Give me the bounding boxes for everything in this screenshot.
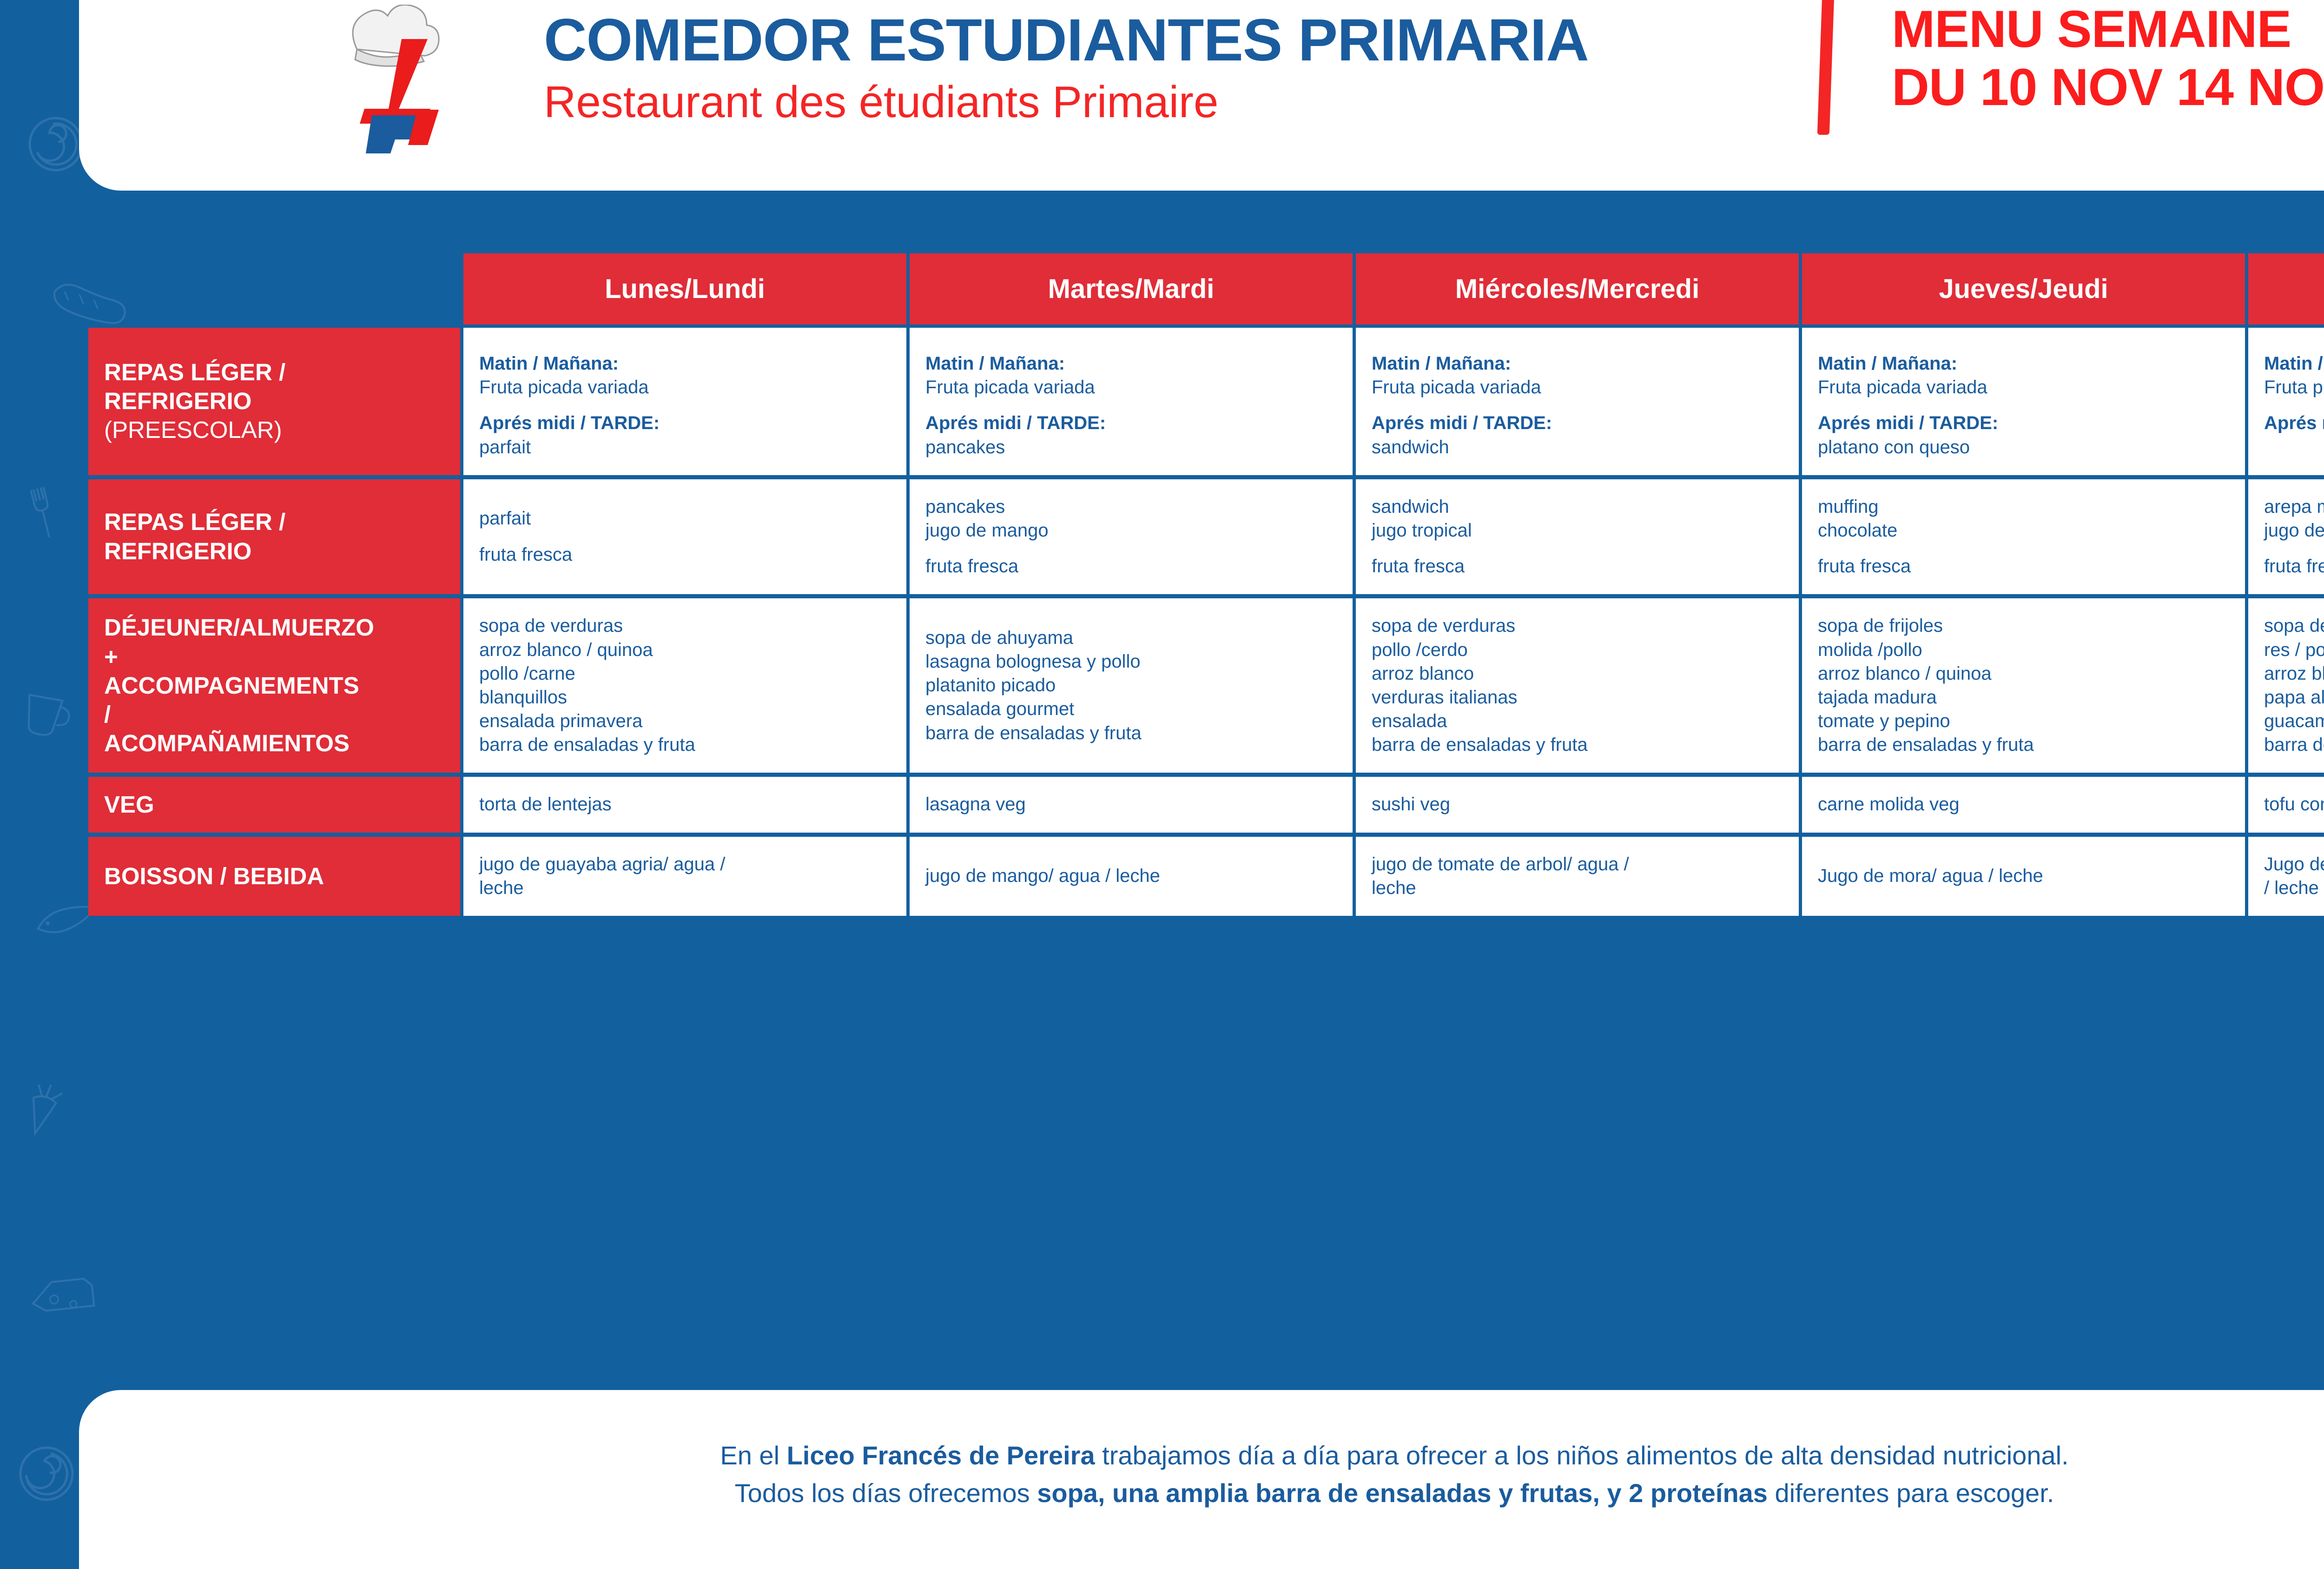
cell-bebida-wednesday: jugo de tomate de arbol/ agua / leche <box>1353 837 1799 920</box>
menu-item: barra de ensaladas y fruta <box>925 722 1339 745</box>
cell-preescolar-monday: Matin / Mañana: Fruta picada variada Apr… <box>460 328 906 479</box>
menu-week-label: MENU SEMAINE <box>1892 0 2324 58</box>
cell-preescolar-thursday: Matin / Mañana: Fruta picada variada Apr… <box>1799 328 2245 479</box>
cell-almuerzo-monday: sopa de verduras arroz blanco / quinoa p… <box>460 598 906 777</box>
row-label-line1: DÉJEUNER/ALMUERZO <box>104 613 448 642</box>
page-title: COMEDOR ESTUDIANTES PRIMARIA <box>544 9 1799 72</box>
afternoon-label: Aprés midi / TARDE: <box>1372 411 1785 435</box>
footer-line1-post: trabajamos día a día para ofrecer a los … <box>1095 1441 2069 1470</box>
table-row-boisson-bebida: BOISSON / BEBIDA jugo de guayaba agria/ … <box>88 837 2324 920</box>
morning-value: Fruta picada variada <box>1818 376 2231 399</box>
day-header-wednesday: Miércoles/Mercredi <box>1353 253 1799 328</box>
cell-almuerzo-friday: sopa de arvejas res / pollo arroz blanco… <box>2245 598 2324 777</box>
morning-value: Fruta picada variada <box>2264 376 2324 399</box>
row-label-line3: (PREESCOLAR) <box>104 416 448 444</box>
menu-item: guacamole <box>2264 709 2324 733</box>
menu-item: sopa de verduras <box>1372 614 1785 638</box>
weekly-menu-table: Lunes/Lundi Martes/Mardi Miércoles/Mercr… <box>88 253 2324 920</box>
morning-value: Fruta picada variada <box>1372 376 1785 399</box>
menu-item: pollo /carne <box>479 662 892 686</box>
drink-item: leche <box>479 876 892 900</box>
menu-item: sopa de verduras <box>479 614 892 638</box>
menu-item: barra de ensaladas y fruta <box>1818 733 2231 757</box>
menu-item: res / pollo <box>2264 638 2324 662</box>
afternoon-value: pancakes <box>925 436 1339 459</box>
week-range: MENU SEMAINE DU 10 NOV 14 NOV 2025 <box>1892 0 2324 117</box>
fruit-item: fruta fresca <box>1372 555 1785 578</box>
cell-preescolar-tuesday: Matin / Mañana: Fruta picada variada Apr… <box>906 328 1353 479</box>
drink-item: Jugo de mora/ agua / leche <box>1818 864 2231 888</box>
header-card: COMEDOR ESTUDIANTES PRIMARIA Restaurant … <box>79 0 2324 191</box>
cell-bebida-friday: Jugo de lulo /agua / leche <box>2245 837 2324 920</box>
day-header-thursday: Jueves/Jeudi <box>1799 253 2245 328</box>
row-label-boisson-bebida: BOISSON / BEBIDA <box>88 837 460 920</box>
header-corner-cell <box>88 253 460 328</box>
menu-item: tomate y pepino <box>1818 709 2231 733</box>
menu-item: arroz blanco / quinoa <box>1818 662 2231 686</box>
menu-item: sopa de frijoles <box>1818 614 2231 638</box>
footer-line2-pre: Todos los días ofrecemos <box>735 1478 1037 1508</box>
cell-veg-thursday: carne molida veg <box>1799 777 2245 836</box>
morning-label: Matin / Mañana: <box>925 352 1339 376</box>
menu-item: barra de ensaladas y fruta <box>1372 733 1785 757</box>
menu-item: ensalada primavera <box>479 709 892 733</box>
fruit-item: fruta fresca <box>1818 555 2231 578</box>
table-row-repas-leger-preescolar: REPAS LÉGER / REFRIGERIO (PREESCOLAR) Ma… <box>88 328 2324 479</box>
menu-item: blanquillos <box>479 686 892 709</box>
cell-almuerzo-tuesday: sopa de ahuyama lasagna bolognesa y poll… <box>906 598 1353 777</box>
row-label-repas-leger-preescolar: REPAS LÉGER / REFRIGERIO (PREESCOLAR) <box>88 328 460 479</box>
footer-message: En el Liceo Francés de Pereira trabajamo… <box>79 1437 2324 1512</box>
menu-item: arroz blanco <box>2264 662 2324 686</box>
morning-label: Matin / Mañana: <box>479 352 892 376</box>
drink-item: Jugo de lulo /agua <box>2264 853 2324 876</box>
snack-item: jugo de frutos rojos <box>2264 519 2324 543</box>
afternoon-label: Aprés midi / TARDE: <box>925 411 1339 435</box>
snack-item: parfait <box>479 507 892 530</box>
menu-week-dates: DU 10 NOV 14 NOV 2025 <box>1892 58 2324 116</box>
menu-item: arroz blanco / quinoa <box>479 638 892 662</box>
day-header-friday: Viernes/Vendredi <box>2245 253 2324 328</box>
row-label-dejeuner-almuerzo: DÉJEUNER/ALMUERZO + ACCOMPAGNEMENTS / AC… <box>88 598 460 777</box>
menu-item: arroz blanco <box>1372 662 1785 686</box>
table-row-veg: VEG torta de lentejas lasagna veg sushi … <box>88 777 2324 836</box>
cell-bebida-tuesday: jugo de mango/ agua / leche <box>906 837 1353 920</box>
menu-item: sopa de ahuyama <box>925 626 1339 650</box>
cell-refrigerio-thursday: muffing chocolate fruta fresca <box>1799 479 2245 599</box>
morning-label: Matin / Mañana: <box>1818 352 2231 376</box>
page-subtitle: Restaurant des étudiants Primaire <box>544 75 1799 129</box>
cell-refrigerio-friday: arepa monos con guacamole jugo de frutos… <box>2245 479 2324 599</box>
cell-veg-wednesday: sushi veg <box>1353 777 1799 836</box>
brush-divider <box>1817 0 1834 135</box>
morning-value: Fruta picada variada <box>479 376 892 399</box>
cell-veg-tuesday: lasagna veg <box>906 777 1353 836</box>
row-label-repas-leger-refrigerio: REPAS LÉGER / REFRIGERIO <box>88 479 460 599</box>
cell-almuerzo-wednesday: sopa de verduras pollo /cerdo arroz blan… <box>1353 598 1799 777</box>
fruit-item: fruta fresca <box>479 543 892 567</box>
menu-item: barra de ensaladas y fruta <box>479 733 892 757</box>
menu-item: pollo /cerdo <box>1372 638 1785 662</box>
row-label-line5: ACOMPAÑAMIENTOS <box>104 729 448 758</box>
chef-hat-logo-icon <box>302 5 497 153</box>
morning-label: Matin / Mañana: <box>2264 352 2324 376</box>
drink-item: jugo de mango/ agua / leche <box>925 864 1339 888</box>
menu-item: lasagna bolognesa y pollo <box>925 650 1339 674</box>
cell-preescolar-wednesday: Matin / Mañana: Fruta picada variada Apr… <box>1353 328 1799 479</box>
cell-almuerzo-thursday: sopa de frijoles molida /pollo arroz bla… <box>1799 598 2245 777</box>
footer-line2-post: diferentes para escoger. <box>1768 1478 2054 1508</box>
snack-item: sandwich <box>1372 495 1785 519</box>
snack-item: arepa monos con guacamole <box>2264 495 2324 519</box>
cell-bebida-thursday: Jugo de mora/ agua / leche <box>1799 837 2245 920</box>
fruit-item: fruta fresca <box>925 555 1339 578</box>
menu-item: tajada madura <box>1818 686 2231 709</box>
drink-item: leche <box>1372 876 1785 900</box>
menu-item: platanito picado <box>925 674 1339 697</box>
row-label-veg: VEG <box>88 777 460 836</box>
row-label-line1: VEG <box>104 790 448 819</box>
footer-line-2: Todos los días ofrecemos sopa, una ampli… <box>163 1474 2324 1512</box>
snack-item: jugo de mango <box>925 519 1339 543</box>
footer-line1-bold: Liceo Francés de Pereira <box>787 1441 1095 1470</box>
afternoon-value: parfait <box>479 436 892 459</box>
drink-item: / leche <box>2264 876 2324 900</box>
cell-refrigerio-monday: parfait fruta fresca <box>460 479 906 599</box>
day-header-tuesday: Martes/Mardi <box>906 253 1353 328</box>
menu-item: molida /pollo <box>1818 638 2231 662</box>
snack-item: pancakes <box>925 495 1339 519</box>
cell-refrigerio-wednesday: sandwich jugo tropical fruta fresca <box>1353 479 1799 599</box>
menu-item: barra de ensaladas y fruta <box>2264 733 2324 757</box>
drink-item: jugo de tomate de arbol/ agua / <box>1372 853 1785 876</box>
cell-preescolar-friday: Matin / Mañana: Fruta picada variada Apr… <box>2245 328 2324 479</box>
table-row-dejeuner-almuerzo: DÉJEUNER/ALMUERZO + ACCOMPAGNEMENTS / AC… <box>88 598 2324 777</box>
cell-bebida-monday: jugo de guayaba agria/ agua / leche <box>460 837 906 920</box>
row-label-line1: REPAS LÉGER / <box>104 358 448 387</box>
footer-card: En el Liceo Francés de Pereira trabajamo… <box>79 1390 2324 1569</box>
row-label-line1: REPAS LÉGER / <box>104 508 448 536</box>
table-header-row: Lunes/Lundi Martes/Mardi Miércoles/Mercr… <box>88 253 2324 328</box>
footer-line2-bold: sopa, una amplia barra de ensaladas y fr… <box>1037 1478 1768 1508</box>
table-row-repas-leger-refrigerio: REPAS LÉGER / REFRIGERIO parfait fruta f… <box>88 479 2324 599</box>
morning-label: Matin / Mañana: <box>1372 352 1785 376</box>
fruit-item: fruta fresca <box>2264 555 2324 578</box>
menu-item: verduras italianas <box>1372 686 1785 709</box>
row-label-line2: REFRIGERIO <box>104 537 448 566</box>
footer-line1-pre: En el <box>720 1441 786 1470</box>
snack-item: chocolate <box>1818 519 2231 543</box>
afternoon-label: Aprés midi / TARde; <box>2264 411 2324 435</box>
cell-veg-friday: tofu con champiñones <box>2245 777 2324 836</box>
row-label-line4: / <box>104 700 448 729</box>
snack-item: jugo tropical <box>1372 519 1785 543</box>
cell-refrigerio-tuesday: pancakes jugo de mango fruta fresca <box>906 479 1353 599</box>
row-label-line2: REFRIGERIO <box>104 387 448 416</box>
afternoon-label: Aprés midi / TARDE: <box>1818 411 2231 435</box>
day-header-monday: Lunes/Lundi <box>460 253 906 328</box>
afternoon-value: sandwich <box>1372 436 1785 459</box>
menu-item: sopa de arvejas <box>2264 614 2324 638</box>
row-label-line1: BOISSON / BEBIDA <box>104 862 448 891</box>
row-label-line3: ACCOMPAGNEMENTS <box>104 671 448 700</box>
morning-value: Fruta picada variada <box>925 376 1339 399</box>
afternoon-label: Aprés midi / TARDE: <box>479 411 892 435</box>
menu-item: ensalada gourmet <box>925 697 1339 721</box>
footer-line-1: En el Liceo Francés de Pereira trabajamo… <box>163 1437 2324 1474</box>
snack-item: muffing <box>1818 495 2231 519</box>
drink-item: jugo de guayaba agria/ agua / <box>479 853 892 876</box>
menu-item: papa al horno <box>2264 686 2324 709</box>
afternoon-value: platano con queso <box>1818 436 2231 459</box>
cell-veg-monday: torta de lentejas <box>460 777 906 836</box>
row-label-line2: + <box>104 642 448 671</box>
menu-item: ensalada <box>1372 709 1785 733</box>
